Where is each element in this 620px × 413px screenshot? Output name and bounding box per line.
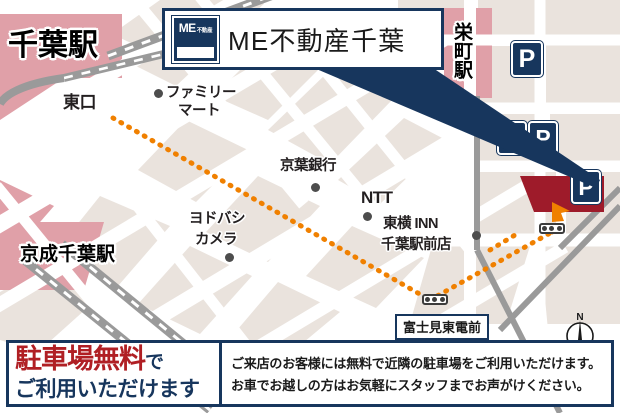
poi-label-toyoko-inn-2: 千葉駅前店 bbox=[381, 238, 451, 253]
company-callout: ME 不動産 ME不動産千葉 bbox=[162, 8, 444, 70]
banner-note: ご来店のお客様には無料で近隣の駐車場をご利用いただけます。 お車でお越しの方はお… bbox=[219, 343, 611, 404]
banner-note-line1: ご来店のお客様には無料で近隣の駐車場をご利用いただけます。 bbox=[231, 353, 611, 372]
traffic-signal-icon bbox=[539, 223, 565, 234]
intersection-label: 富士見東電前 bbox=[395, 314, 489, 340]
banner-note-line2: お車でお越しの方はお気軽にスタッフまでお声がけください。 bbox=[231, 375, 611, 394]
poi-label-toyoko-inn-1: 東横 INN bbox=[383, 217, 438, 232]
callout-pointer bbox=[300, 62, 600, 192]
poi-dot bbox=[225, 253, 234, 262]
banner-headline-tail: で bbox=[145, 352, 163, 373]
banner-headline-highlight: 駐車場無料 bbox=[15, 344, 145, 374]
poi-label-yodobashi-2: カメラ bbox=[195, 233, 237, 248]
poi-dot bbox=[472, 231, 481, 240]
parking-banner: 駐車場無料で ご利用いただけます ご来店のお客様には無料で近隣の駐車場をご利用い… bbox=[6, 340, 614, 407]
station-label-keisei-chiba: 京成千葉駅 bbox=[20, 239, 115, 266]
poi-dot bbox=[363, 212, 372, 221]
poi-label-yodobashi-1: ヨドバシ bbox=[189, 212, 245, 227]
poi-label-familymart-2: マート bbox=[178, 104, 220, 119]
company-logo-mark: ME 不動産 bbox=[172, 16, 219, 63]
poi-label-familymart-1: ファミリー bbox=[166, 86, 236, 101]
poi-label-ntt: NTT bbox=[361, 190, 393, 205]
banner-headline: 駐車場無料で ご利用いただけます bbox=[9, 343, 219, 404]
traffic-signal-icon bbox=[422, 294, 448, 305]
banner-headline-line2: ご利用いただけます bbox=[15, 377, 219, 402]
logo-me-text: ME bbox=[179, 21, 196, 35]
logo-bar bbox=[177, 47, 214, 58]
access-map: ME 不動産 ME不動産千葉 千葉駅 京成千葉駅 栄町駅 東口 ファミリー マー… bbox=[0, 0, 620, 413]
company-name: ME不動産千葉 bbox=[228, 21, 405, 58]
destination-arrow-icon bbox=[550, 200, 572, 224]
station-label-chiba: 千葉駅 bbox=[8, 20, 98, 64]
poi-dot bbox=[154, 89, 163, 98]
exit-label-east: 東口 bbox=[63, 95, 96, 110]
logo-ja-text: 不動産 bbox=[197, 26, 213, 34]
